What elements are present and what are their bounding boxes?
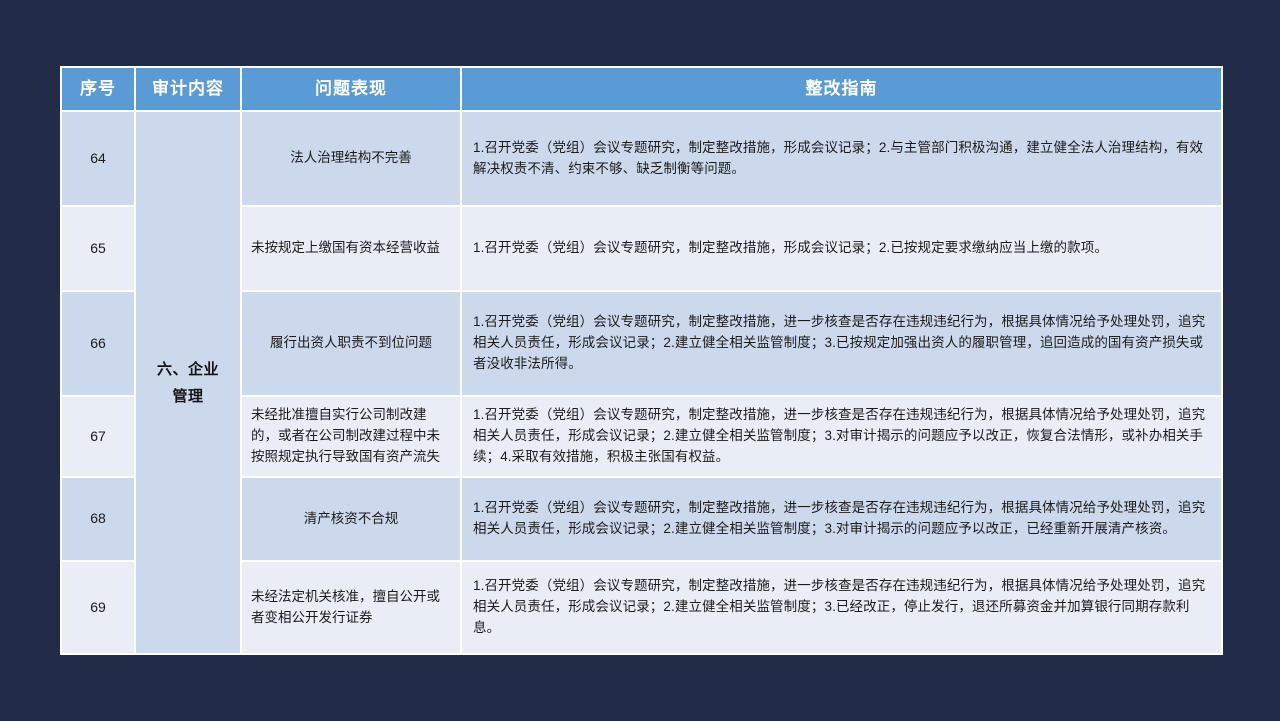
audit-subject-line-2: 管理 — [172, 388, 203, 405]
cell-issue: 未经法定机关核准，擅自公开或者变相公开发行证券 — [242, 562, 460, 653]
cell-seq: 65 — [62, 207, 134, 290]
cell-seq: 68 — [62, 478, 134, 560]
audit-remediation-table: 序号 审计内容 问题表现 整改指南 64 六、企业 管理 法人治理结构不完善 1… — [60, 66, 1223, 655]
table-body: 64 六、企业 管理 法人治理结构不完善 1.召开党委（党组）会议专题研究，制定… — [62, 112, 1221, 653]
audit-table-container: 序号 审计内容 问题表现 整改指南 64 六、企业 管理 法人治理结构不完善 1… — [60, 66, 1219, 667]
cell-guidance: 1.召开党委（党组）会议专题研究，制定整改措施，形成会议记录；2.已按规定要求缴… — [462, 207, 1221, 290]
slide-canvas: 序号 审计内容 问题表现 整改指南 64 六、企业 管理 法人治理结构不完善 1… — [0, 0, 1280, 721]
table-header-row: 序号 审计内容 问题表现 整改指南 — [62, 68, 1221, 110]
table-row: 64 六、企业 管理 法人治理结构不完善 1.召开党委（党组）会议专题研究，制定… — [62, 112, 1221, 205]
cell-seq: 66 — [62, 292, 134, 395]
table-header: 序号 审计内容 问题表现 整改指南 — [62, 68, 1221, 110]
cell-seq: 69 — [62, 562, 134, 653]
cell-issue: 法人治理结构不完善 — [242, 112, 460, 205]
column-header-issue: 问题表现 — [242, 68, 460, 110]
cell-issue: 未经批准擅自实行公司制改建的，或者在公司制改建过程中未按照规定执行导致国有资产流… — [242, 397, 460, 476]
column-header-seq: 序号 — [62, 68, 134, 110]
cell-audit-subject-group: 六、企业 管理 — [136, 112, 240, 653]
column-header-audit-subject: 审计内容 — [136, 68, 240, 110]
cell-guidance: 1.召开党委（党组）会议专题研究，制定整改措施，进一步核查是否存在违规违纪行为，… — [462, 292, 1221, 395]
cell-issue: 履行出资人职责不到位问题 — [242, 292, 460, 395]
column-header-guidance: 整改指南 — [462, 68, 1221, 110]
cell-seq: 67 — [62, 397, 134, 476]
cell-guidance: 1.召开党委（党组）会议专题研究，制定整改措施，进一步核查是否存在违规违纪行为，… — [462, 562, 1221, 653]
cell-issue: 未按规定上缴国有资本经营收益 — [242, 207, 460, 290]
cell-guidance: 1.召开党委（党组）会议专题研究，制定整改措施，进一步核查是否存在违规违纪行为，… — [462, 478, 1221, 560]
cell-issue: 清产核资不合规 — [242, 478, 460, 560]
cell-seq: 64 — [62, 112, 134, 205]
audit-subject-line-1: 六、企业 — [157, 361, 219, 378]
cell-guidance: 1.召开党委（党组）会议专题研究，制定整改措施，形成会议记录；2.与主管部门积极… — [462, 112, 1221, 205]
cell-guidance: 1.召开党委（党组）会议专题研究，制定整改措施，进一步核查是否存在违规违纪行为，… — [462, 397, 1221, 476]
